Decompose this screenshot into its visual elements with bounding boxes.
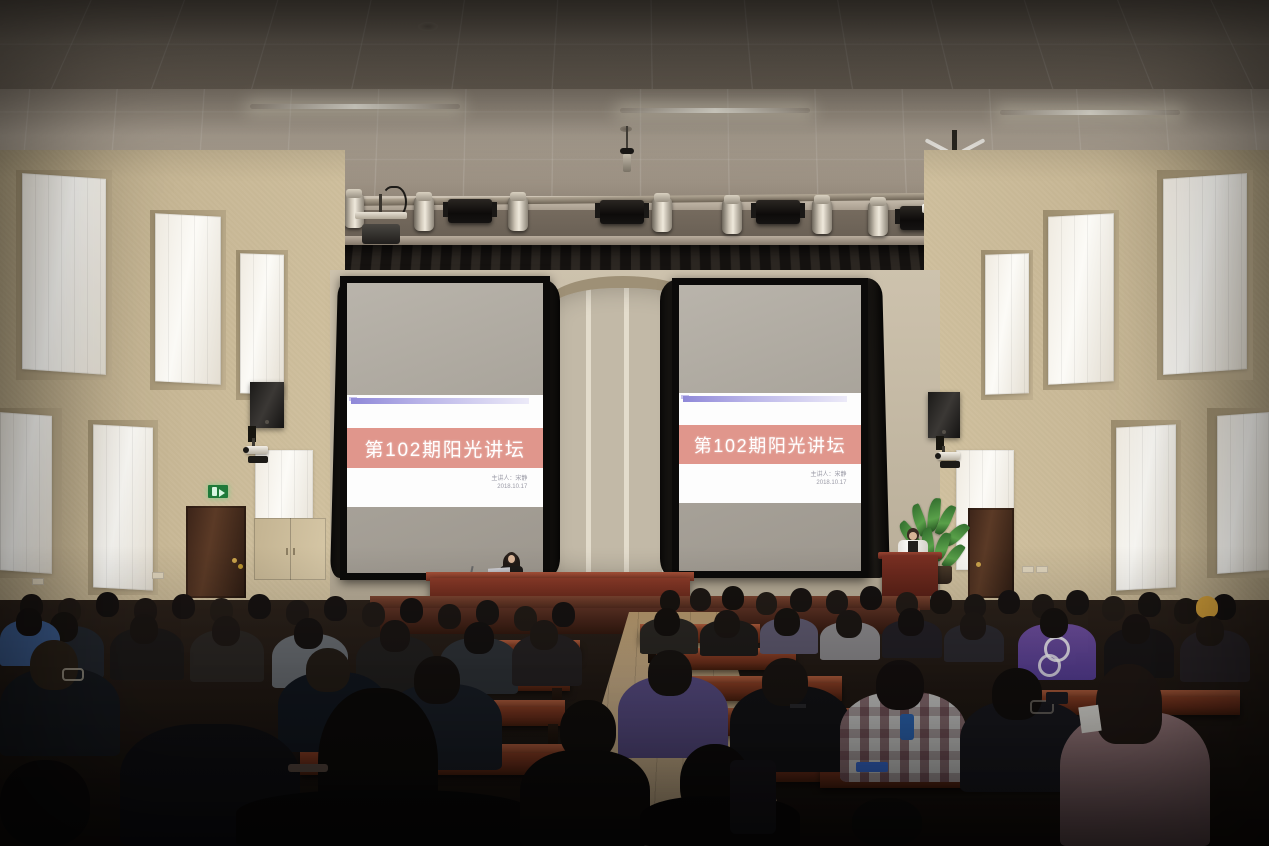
audience-head <box>998 590 1020 614</box>
side-door-left[interactable] <box>186 506 246 598</box>
audience-head <box>836 610 862 638</box>
right-projection-screen: 第102期阳光讲坛 主讲人：宋静 2018.10.17 <box>672 278 868 578</box>
cabinet-handle[interactable] <box>293 548 295 555</box>
presenter-face <box>909 532 917 540</box>
exit-sign <box>208 485 228 498</box>
lecture-hall-photo: 第102期阳光讲坛 主讲人：宋静 2018.10.17 第102期阳光讲坛 主讲… <box>0 0 1269 846</box>
audience-head <box>438 604 461 629</box>
stage-light-silver-icon <box>652 198 672 232</box>
acoustic-panel <box>1217 412 1269 574</box>
projector-mount-plate <box>355 212 407 219</box>
door-knob[interactable] <box>976 562 981 567</box>
paper-sheet <box>1078 705 1101 734</box>
audience-head <box>898 608 924 636</box>
audience-head <box>414 656 460 704</box>
acoustic-panel <box>1116 424 1176 590</box>
cabinet-seam <box>290 518 291 580</box>
speaker-knob <box>942 430 946 434</box>
jacket-logo-icon <box>1038 654 1061 677</box>
audience-head <box>1196 616 1224 646</box>
slide-subtitle: 主讲人：宋静 2018.10.17 <box>491 475 527 491</box>
audience-head <box>530 620 558 650</box>
audience-head <box>1174 598 1198 624</box>
audience-head <box>400 598 423 623</box>
acoustic-panel <box>0 412 52 574</box>
cove-light-strip <box>250 104 460 109</box>
camera-housing <box>940 461 960 468</box>
audience-head <box>852 798 922 846</box>
audience-head <box>714 610 740 638</box>
audience-head <box>654 608 680 636</box>
slide-title: 第102期阳光讲坛 <box>694 432 847 458</box>
slide-date: 2018.10.17 <box>810 479 846 487</box>
audience-body-foreground <box>236 790 536 846</box>
slide-presenter-line: 主讲人：宋静 <box>491 475 527 483</box>
camera-housing <box>248 456 268 463</box>
eyeglasses-icon <box>62 668 84 681</box>
audience-head <box>860 586 882 610</box>
stage-light-silver-icon <box>722 200 742 234</box>
audience-head <box>380 620 410 652</box>
backpack <box>730 760 776 834</box>
acoustic-panel <box>1048 213 1114 384</box>
ceiling-projector <box>355 212 407 246</box>
audience-head <box>212 616 240 646</box>
audience-head <box>1102 596 1125 621</box>
audience-head <box>1096 664 1162 744</box>
slide-subtitle: 主讲人：宋静 2018.10.17 <box>810 471 846 487</box>
audience-head <box>96 592 119 617</box>
speaker-knob <box>265 420 269 424</box>
stage-light-silver-icon <box>868 202 888 236</box>
audience-head <box>1138 592 1161 617</box>
acoustic-panel <box>93 424 153 590</box>
wall-outlet <box>152 572 164 579</box>
slide-title-band: 第102期阳光讲坛 <box>679 425 861 464</box>
audience-body <box>520 750 650 846</box>
left-projection-screen: 第102期阳光讲坛 主讲人：宋静 2018.10.17 <box>340 276 550 580</box>
pendant-glass <box>623 154 631 172</box>
speaker-podium <box>882 556 938 596</box>
audience-head <box>172 594 195 619</box>
slide-accent-bar <box>351 398 529 404</box>
audience-head <box>306 648 350 692</box>
phone <box>790 704 806 708</box>
wall-outlet <box>1022 566 1034 573</box>
door-knob[interactable] <box>232 558 237 563</box>
acoustic-panel <box>985 253 1029 395</box>
acoustic-panel <box>155 213 221 384</box>
exit-figure-icon <box>212 487 217 496</box>
audience-head <box>362 602 385 627</box>
audience-head <box>1122 614 1150 644</box>
water-bottle <box>900 714 914 740</box>
audience-body <box>640 796 800 846</box>
storage-cabinet-left[interactable] <box>254 518 326 580</box>
cove-light-strip <box>620 108 810 113</box>
slide-title-band: 第102期阳光讲坛 <box>347 428 543 468</box>
side-door-right[interactable] <box>968 508 1014 598</box>
cove-light-strip <box>1000 110 1180 115</box>
slide-left: 第102期阳光讲坛 主讲人：宋静 2018.10.17 <box>347 395 543 507</box>
host-face <box>508 555 515 563</box>
book-on-desk <box>856 762 888 772</box>
audience-head <box>762 658 808 706</box>
audience-head-yellow-cap <box>1196 596 1218 618</box>
camera-lens <box>243 447 249 453</box>
pendant-rod <box>626 126 628 148</box>
wall-outlet <box>32 578 44 585</box>
audience-head <box>248 594 271 619</box>
stage-light-black-icon <box>448 199 492 223</box>
audience-head <box>1066 590 1089 615</box>
stage-light-black-icon <box>600 200 644 224</box>
audience-head <box>774 608 800 636</box>
screen-surface: 第102期阳光讲坛 主讲人：宋静 2018.10.17 <box>679 285 861 571</box>
audience-head <box>30 640 78 690</box>
wall-speaker-left <box>250 382 284 428</box>
stage-light-silver-icon <box>414 197 434 231</box>
projector-body <box>362 224 400 244</box>
audience-head <box>722 586 744 610</box>
cabinet-handle[interactable] <box>286 548 288 555</box>
audience-head <box>690 588 711 611</box>
audience-head <box>552 602 575 627</box>
slide-accent-bar <box>683 396 847 402</box>
stage-light-silver-icon <box>508 197 528 231</box>
audience-head <box>790 588 812 612</box>
acoustic-panel <box>240 253 284 395</box>
acoustic-panel <box>22 173 106 375</box>
audience-head <box>130 614 158 644</box>
cable-on-desk <box>288 764 328 772</box>
stage-light-silver-icon <box>812 200 832 234</box>
audience-head <box>930 590 952 614</box>
ceiling-plane-far <box>0 0 1269 100</box>
camera-lens <box>935 453 941 459</box>
slide-date: 2018.10.17 <box>491 483 527 491</box>
phone <box>1046 692 1068 704</box>
audience-head <box>16 608 42 636</box>
screen-surface: 第102期阳光讲坛 主讲人：宋静 2018.10.17 <box>347 283 543 573</box>
audience-head <box>324 596 347 621</box>
exit-arrow-icon <box>219 489 225 497</box>
audience-head <box>294 618 323 649</box>
security-camera-right <box>938 452 960 460</box>
acoustic-panel <box>1163 173 1247 375</box>
audience-head <box>960 612 986 640</box>
pendant-lamp <box>620 148 634 174</box>
audience-head <box>756 592 777 615</box>
slide-presenter-line: 主讲人：宋静 <box>810 471 846 479</box>
slide-right: 第102期阳光讲坛 主讲人：宋静 2018.10.17 <box>679 393 861 503</box>
audience-head <box>648 650 692 696</box>
wall-outlet <box>1036 566 1048 573</box>
audience-head <box>464 622 494 654</box>
stage-light-black-icon <box>756 200 800 224</box>
audience-head <box>1040 608 1068 638</box>
security-camera-left <box>246 446 268 454</box>
slide-title: 第102期阳光讲坛 <box>364 435 525 462</box>
audience-head <box>876 660 924 710</box>
wall-speaker-right <box>928 392 960 438</box>
door-knob[interactable] <box>238 564 243 569</box>
audience-head <box>0 760 90 846</box>
ceiling-tile-grid-far <box>0 0 1269 100</box>
ceiling-vent-disc <box>418 22 438 31</box>
